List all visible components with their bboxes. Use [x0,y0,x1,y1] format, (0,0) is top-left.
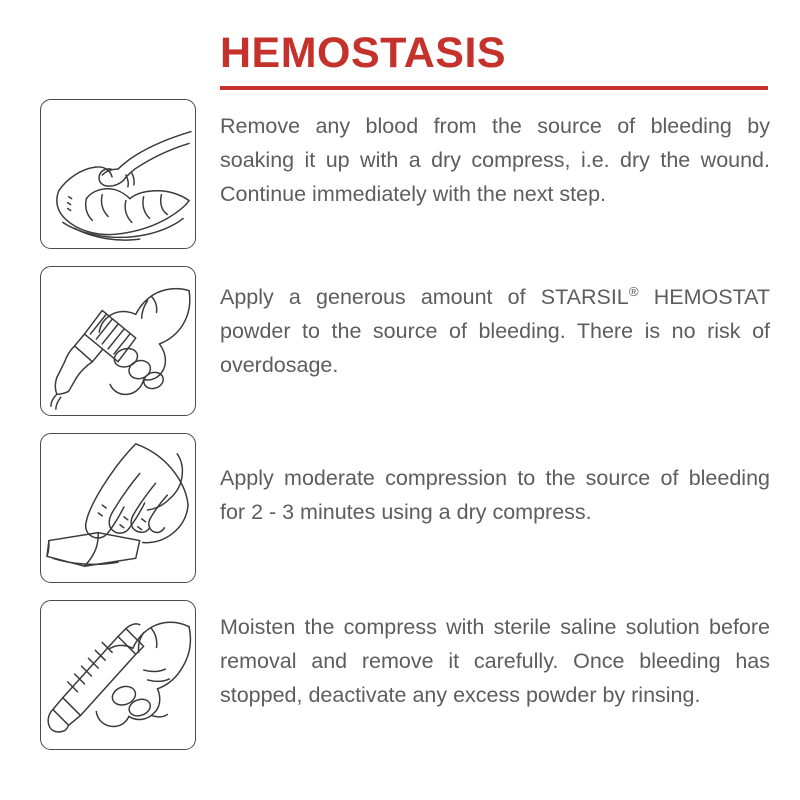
title-block: HEMOSTASIS [220,28,768,90]
hand-squeezing-powder-applicator-bottle-illustration [40,266,196,416]
step-row: Remove any blood from the source of blee… [0,99,800,266]
title-underline-rule [220,86,768,90]
step2-text-before-trademark: Apply a generous amount of STARSIL [220,285,629,309]
step-row: Apply a generous amount of STARSIL® HEMO… [0,266,800,433]
page-title: HEMOSTASIS [220,28,768,78]
hemostasis-instruction-sheet: HEMOSTASIS [0,0,800,800]
hand-holding-saline-syringe-illustration [40,600,196,750]
step-row: Moisten the compress with sterile saline… [0,600,800,767]
step-instruction-text: Apply moderate compression to the source… [220,461,770,529]
steps-list: Remove any blood from the source of blee… [0,99,800,767]
step-row: Apply moderate compression to the source… [0,433,800,600]
hand-pressing-compress-illustration [40,433,196,583]
step-instruction-text: Apply a generous amount of STARSIL® HEMO… [220,280,770,382]
registered-trademark-icon: ® [629,284,639,299]
hand-drying-wound-with-compress-illustration [40,99,196,249]
step-instruction-text: Moisten the compress with sterile saline… [220,610,770,712]
step-instruction-text: Remove any blood from the source of blee… [220,109,770,211]
